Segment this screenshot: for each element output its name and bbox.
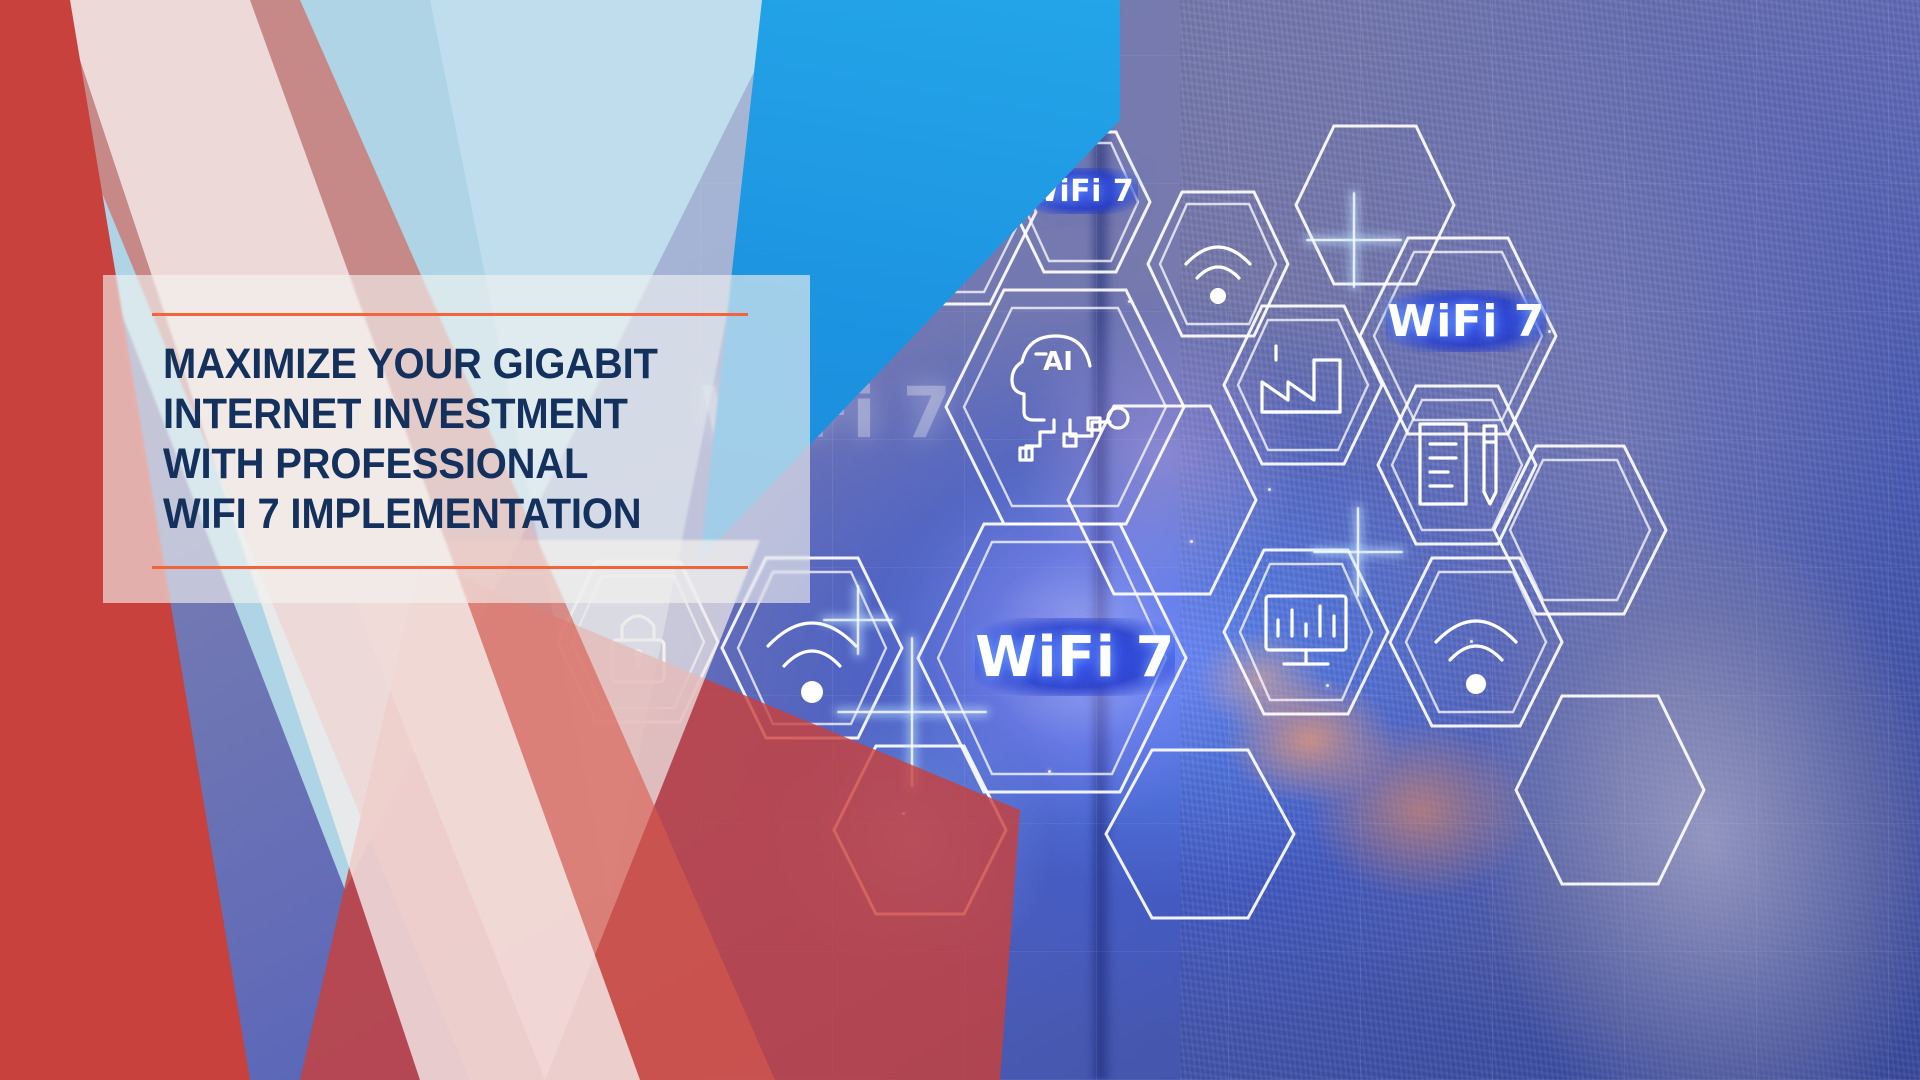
hex-connector bbox=[1062, 400, 1262, 600]
page-title: MAXIMIZE YOUR GIGABIT INTERNET INVESTMEN… bbox=[163, 340, 736, 540]
accent-rule-bottom bbox=[152, 566, 748, 569]
hex-connector bbox=[1510, 690, 1710, 890]
hex-connector bbox=[1490, 440, 1670, 620]
network-node bbox=[1326, 684, 1329, 687]
network-node bbox=[1470, 640, 1473, 643]
accent-rule-top bbox=[152, 313, 748, 316]
network-node bbox=[1548, 330, 1551, 333]
banner-stage: AI bbox=[0, 0, 1920, 1080]
network-node bbox=[1048, 770, 1051, 773]
hex-connector bbox=[1290, 120, 1460, 290]
hex-connector bbox=[1100, 744, 1300, 924]
network-node bbox=[1190, 540, 1193, 543]
svg-text:AI: AI bbox=[1043, 347, 1073, 377]
wifi7-badge-center: WiFi 7 bbox=[975, 618, 1175, 696]
network-node bbox=[1128, 300, 1131, 303]
network-node bbox=[1268, 488, 1271, 491]
wifi7-badge-right: WiFi 7 bbox=[1386, 290, 1546, 352]
